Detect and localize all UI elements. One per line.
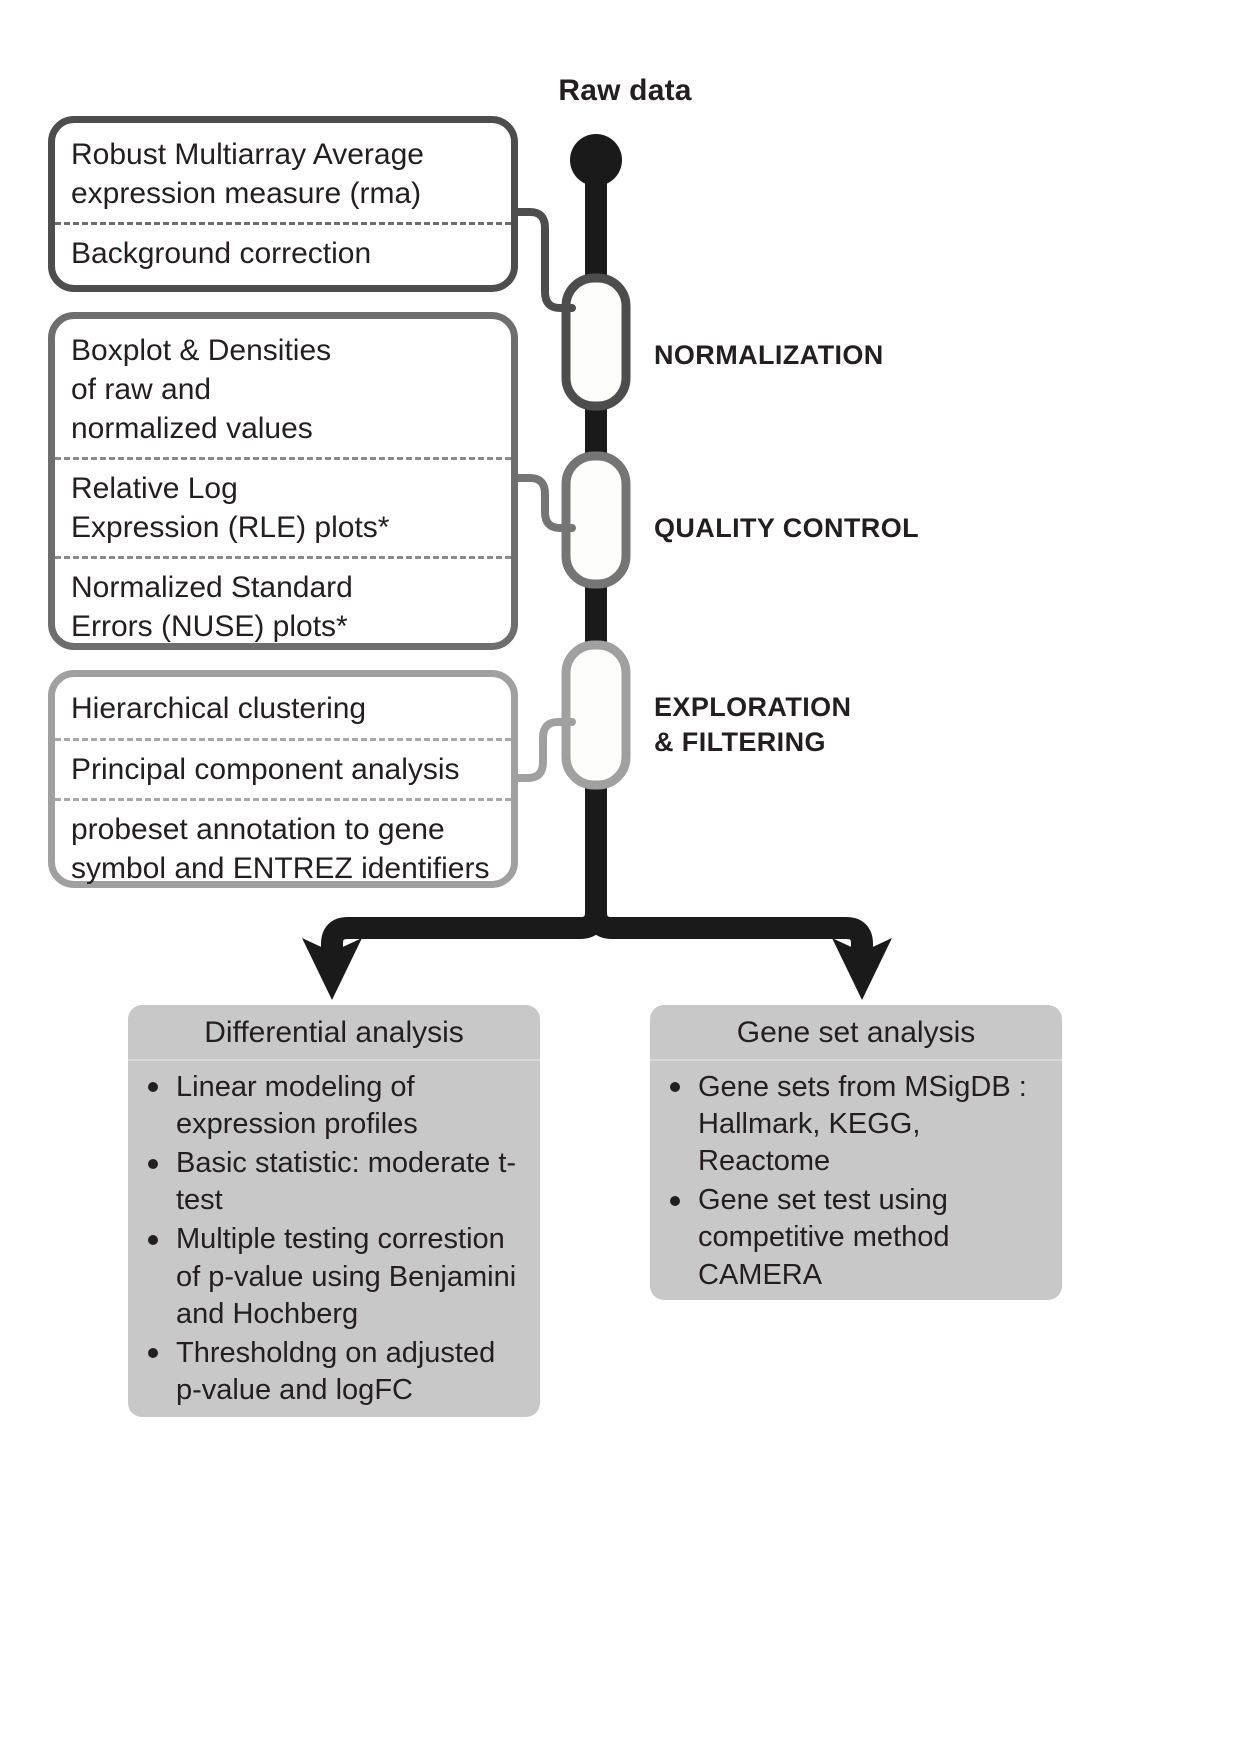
panel-title: Differential analysis [128, 1005, 540, 1061]
detail-box-exploration-filtering: Hierarchical clustering Principal compon… [48, 670, 518, 888]
list-item-text: Thresholdng on adjusted p-value and logF… [176, 1337, 495, 1406]
list-item-text: Gene set test using competitive method C… [698, 1184, 949, 1290]
detail-segment: Robust Multiarray Average expression mea… [55, 123, 511, 222]
branch-left-arrow [332, 898, 596, 968]
stage-label-quality-control: QUALITY CONTROL [654, 511, 919, 546]
panel-differential-analysis: Differential analysis Linear modeling of… [128, 1005, 540, 1417]
list-item: Basic statistic: moderate t-test [146, 1145, 526, 1219]
stage-capsule-normalization [566, 278, 626, 406]
bullet-icon [148, 1348, 158, 1358]
stage-capsule-exploration [566, 645, 626, 785]
list-item: Linear modeling of expression profiles [146, 1069, 526, 1143]
list-item: Multiple testing correstion of p-value u… [146, 1221, 526, 1332]
panel-item-list: Gene sets from MSigDB : Hallmark, KEGG, … [650, 1061, 1062, 1300]
panel-gene-set-analysis: Gene set analysis Gene sets from MSigDB … [650, 1005, 1062, 1300]
detail-segment: Normalized Standard Errors (NUSE) plots* [55, 556, 511, 655]
connector-exploration [513, 722, 572, 778]
list-item-text: Multiple testing correstion of p-value u… [176, 1223, 516, 1329]
stage-label-normalization: NORMALIZATION [654, 338, 884, 373]
list-item-text: Gene sets from MSigDB : Hallmark, KEGG, … [698, 1071, 1027, 1177]
connector-quality [513, 478, 572, 528]
bullet-icon [148, 1082, 158, 1092]
connector-normalization [513, 212, 572, 308]
branch-right-arrowhead [832, 938, 892, 1000]
list-item: Gene sets from MSigDB : Hallmark, KEGG, … [668, 1069, 1048, 1180]
branch-right-arrow [596, 898, 862, 968]
panel-item-list: Linear modeling of expression profiles B… [128, 1061, 540, 1417]
list-item: Thresholdng on adjusted p-value and logF… [146, 1335, 526, 1409]
detail-segment: Boxplot & Densities of raw and normalize… [55, 319, 511, 457]
detail-segment: Hierarchical clustering [55, 677, 511, 738]
list-item-text: Linear modeling of expression profiles [176, 1071, 418, 1140]
raw-data-node [570, 134, 622, 186]
detail-box-quality-control: Boxplot & Densities of raw and normalize… [48, 312, 518, 650]
detail-segment: probeset annotation to gene symbol and E… [55, 798, 511, 897]
list-item: Gene set test using competitive method C… [668, 1182, 1048, 1293]
stage-capsule-quality [566, 456, 626, 584]
page-title: Raw data [505, 74, 745, 108]
stage-label-exploration-filtering: EXPLORATION & FILTERING [654, 690, 851, 760]
bullet-icon [670, 1196, 680, 1206]
bullet-icon [148, 1159, 158, 1169]
bullet-icon [148, 1235, 158, 1245]
branch-left-arrowhead [302, 938, 362, 1000]
bullet-icon [670, 1082, 680, 1092]
detail-segment: Relative Log Expression (RLE) plots* [55, 457, 511, 556]
panel-title: Gene set analysis [650, 1005, 1062, 1061]
detail-box-normalization: Robust Multiarray Average expression mea… [48, 116, 518, 292]
detail-segment: Background correction [55, 222, 511, 282]
detail-segment: Principal component analysis [55, 738, 511, 798]
list-item-text: Basic statistic: moderate t-test [176, 1147, 516, 1216]
